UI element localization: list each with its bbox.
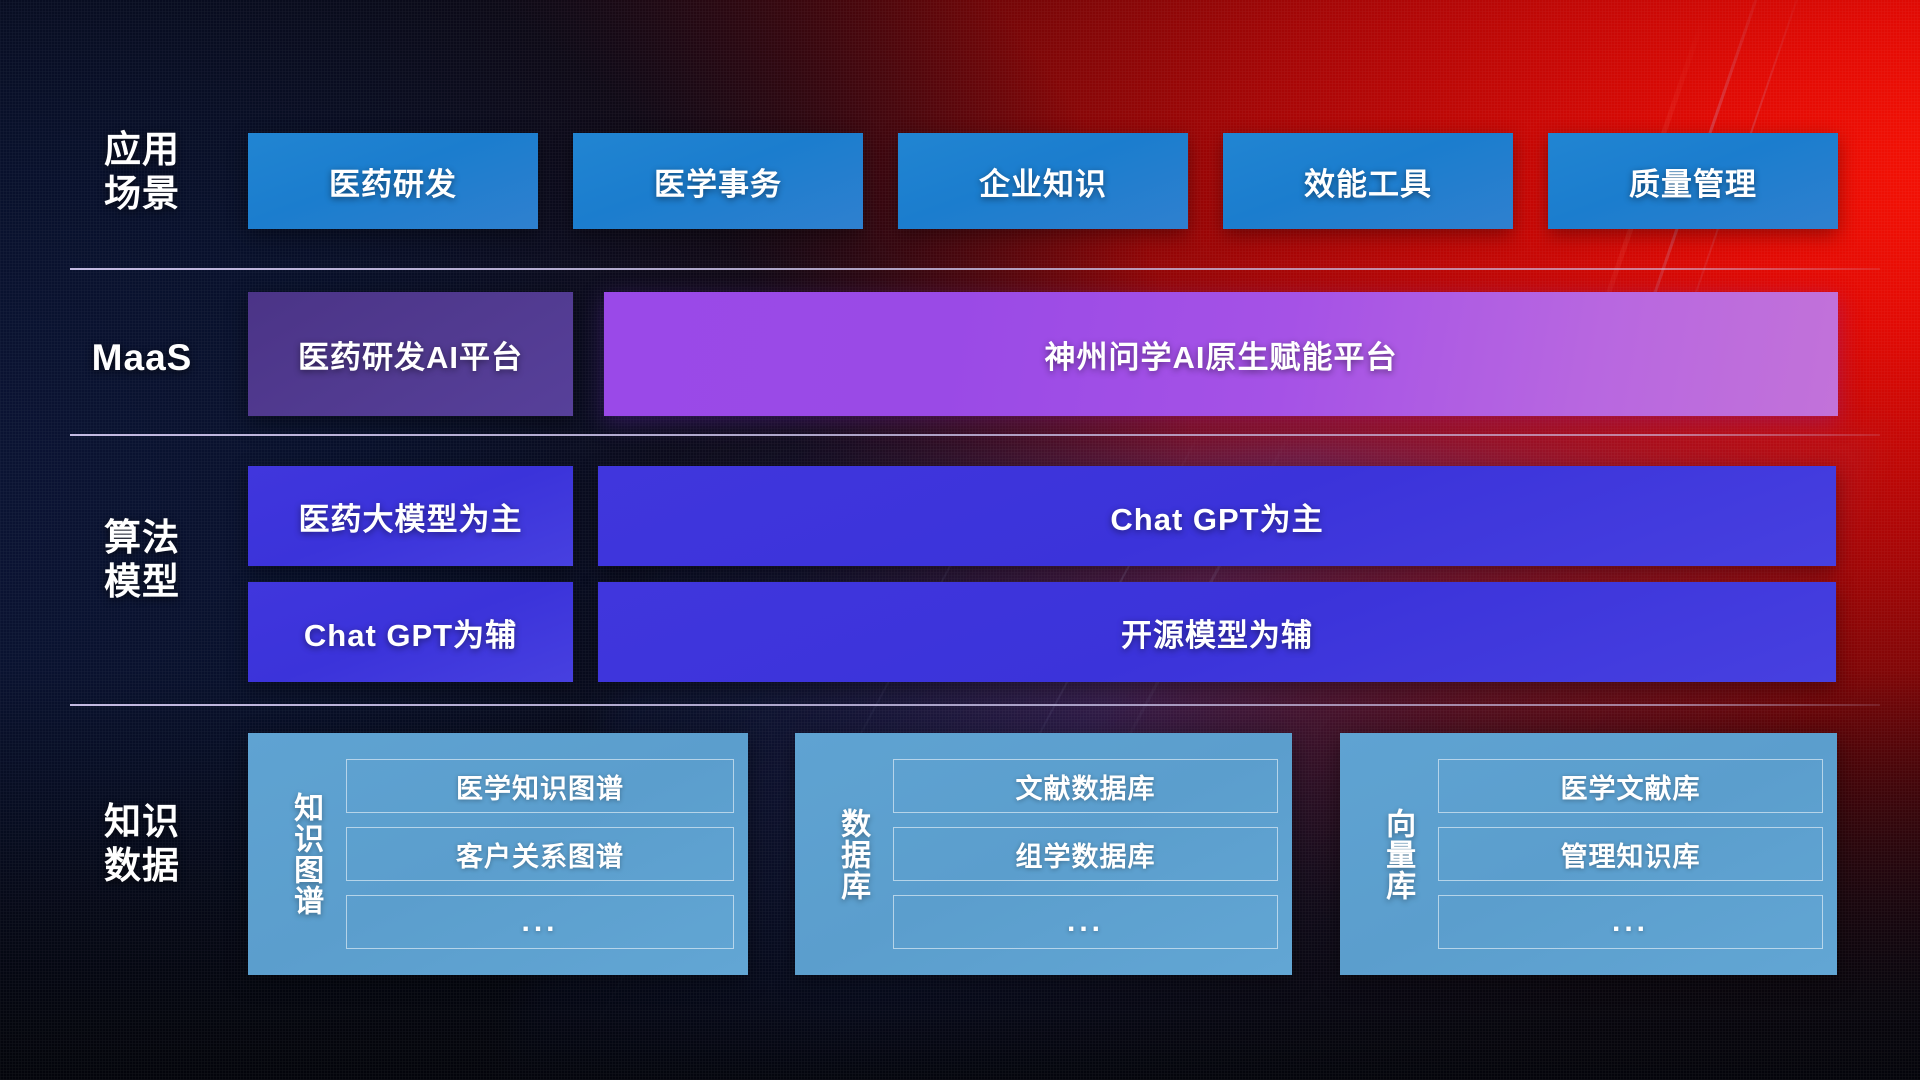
knowledge-group-1-items: 文献数据库 组学数据库 ... <box>893 759 1278 949</box>
app-box-3[interactable]: 效能工具 <box>1223 133 1513 229</box>
row-label-application: 应用 场景 <box>72 128 212 215</box>
knowledge-group-0-title: 知识图谱 <box>272 792 338 916</box>
knowledge-item-1-2[interactable]: ... <box>893 895 1278 949</box>
knowledge-item-0-2[interactable]: ... <box>346 895 734 949</box>
algo-right-box-1[interactable]: 开源模型为辅 <box>598 582 1836 682</box>
knowledge-item-0-0[interactable]: 医学知识图谱 <box>346 759 734 813</box>
algo-left-box-0[interactable]: 医药大模型为主 <box>248 466 573 566</box>
knowledge-group-0-items: 医学知识图谱 客户关系图谱 ... <box>346 759 734 949</box>
architecture-diagram: 应用 场景 医药研发 医学事务 企业知识 效能工具 质量管理 MaaS 医药研发… <box>0 0 1920 1080</box>
knowledge-group-1: 数据库 文献数据库 组学数据库 ... <box>795 733 1292 975</box>
knowledge-item-0-1[interactable]: 客户关系图谱 <box>346 827 734 881</box>
maas-left-box[interactable]: 医药研发AI平台 <box>248 292 573 416</box>
maas-right-box[interactable]: 神州问学AI原生赋能平台 <box>604 292 1838 416</box>
algo-right-box-0[interactable]: Chat GPT为主 <box>598 466 1836 566</box>
knowledge-item-1-0[interactable]: 文献数据库 <box>893 759 1278 813</box>
row-label-maas: MaaS <box>72 336 212 380</box>
app-box-0[interactable]: 医药研发 <box>248 133 538 229</box>
app-box-1[interactable]: 医学事务 <box>573 133 863 229</box>
app-box-4[interactable]: 质量管理 <box>1548 133 1838 229</box>
knowledge-group-2: 向量库 医学文献库 管理知识库 ... <box>1340 733 1837 975</box>
divider-1 <box>70 268 1880 270</box>
knowledge-item-2-1[interactable]: 管理知识库 <box>1438 827 1823 881</box>
algo-left-box-1[interactable]: Chat GPT为辅 <box>248 582 573 682</box>
knowledge-group-2-title: 向量库 <box>1364 808 1430 901</box>
row-label-knowledge: 知识 数据 <box>72 800 212 887</box>
row-label-algorithm: 算法 模型 <box>72 516 212 603</box>
knowledge-group-1-title: 数据库 <box>819 808 885 901</box>
knowledge-item-2-2[interactable]: ... <box>1438 895 1823 949</box>
knowledge-item-1-1[interactable]: 组学数据库 <box>893 827 1278 881</box>
divider-2 <box>70 434 1880 436</box>
app-box-2[interactable]: 企业知识 <box>898 133 1188 229</box>
knowledge-item-2-0[interactable]: 医学文献库 <box>1438 759 1823 813</box>
divider-3 <box>70 704 1880 706</box>
knowledge-group-0: 知识图谱 医学知识图谱 客户关系图谱 ... <box>248 733 748 975</box>
knowledge-group-2-items: 医学文献库 管理知识库 ... <box>1438 759 1823 949</box>
